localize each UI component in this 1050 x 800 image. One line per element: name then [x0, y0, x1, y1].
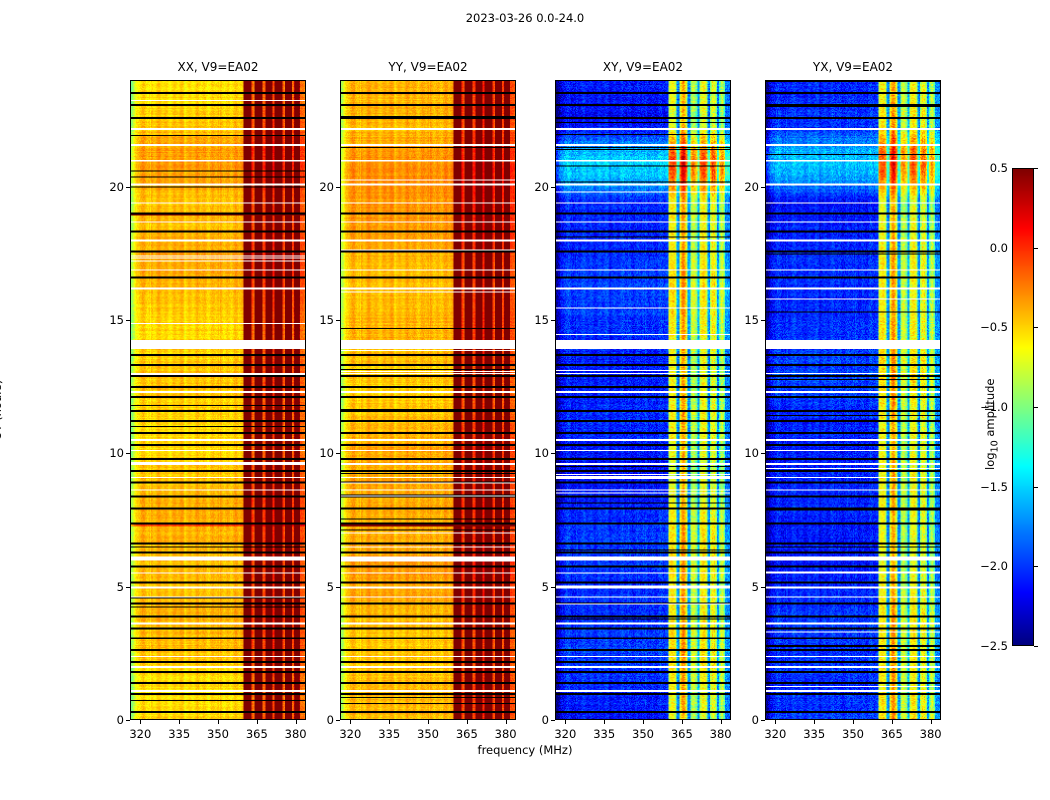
- panel-xx-xtick: [218, 720, 219, 724]
- panel-xy-ytick: [551, 453, 555, 454]
- panel-xx-ytick: [126, 187, 130, 188]
- panel-yy-yticklabel: 15: [306, 313, 334, 327]
- panel-xx-yticklabel: 10: [96, 446, 124, 460]
- panel-xx-xticklabel: 335: [168, 727, 190, 741]
- panel-yx-ytick: [761, 587, 765, 588]
- panel-yy-axes[interactable]: [340, 80, 516, 720]
- panel-yx-xtick: [775, 720, 776, 724]
- colorbar-label: log10 amplitude: [983, 378, 1000, 470]
- panel-yx-ytick: [761, 187, 765, 188]
- figure-canvas: 2023-03-26 0.0-24.0 XX, V9=EA02 YY, V9=E…: [0, 0, 1050, 800]
- colorbar-tick: [1034, 487, 1038, 488]
- panel-yx-xtick: [814, 720, 815, 724]
- panel-yx-yticklabel: 15: [731, 313, 759, 327]
- panel-xx-title: XX, V9=EA02: [130, 60, 306, 74]
- panel-yy-xtick: [506, 720, 507, 724]
- colorbar-ticklabel: −0.5: [970, 320, 1008, 334]
- colorbar-label-subscript: 10: [989, 440, 1000, 452]
- panel-yx-ytick: [761, 720, 765, 721]
- panel-xx-xtick: [257, 720, 258, 724]
- panel-xy-xtick: [643, 720, 644, 724]
- x-axis-label: frequency (MHz): [0, 743, 1050, 757]
- panel-xy-yticklabel: 20: [521, 180, 549, 194]
- panel-xy-ytick: [551, 587, 555, 588]
- panel-xx-ytick: [126, 587, 130, 588]
- colorbar-ticklabel: −1.0: [970, 400, 1008, 414]
- panel-xy-xtick: [565, 720, 566, 724]
- panel-yx-yticklabel: 5: [731, 580, 759, 594]
- colorbar-ticklabel: −2.0: [970, 559, 1008, 573]
- panel-yx-yticklabel: 20: [731, 180, 759, 194]
- panel-xx-yticklabel: 0: [96, 713, 124, 727]
- panel-yy-xticklabel: 365: [456, 727, 478, 741]
- panel-xy-xticklabel: 350: [632, 727, 654, 741]
- panel-yx-xticklabel: 320: [764, 727, 786, 741]
- panel-yy-yticklabel: 0: [306, 713, 334, 727]
- panel-xx-xticklabel: 320: [129, 727, 151, 741]
- panel-xx-xtick: [296, 720, 297, 724]
- panel-yy-ytick: [336, 720, 340, 721]
- panel-yy-ytick: [336, 587, 340, 588]
- panel-xy: XY, V9=EA02: [555, 80, 731, 720]
- colorbar[interactable]: [1012, 168, 1034, 646]
- panel-xx-yticklabel: 15: [96, 313, 124, 327]
- panel-yy-ytick: [336, 320, 340, 321]
- panel-xx-yticklabel: 5: [96, 580, 124, 594]
- panel-xy-xtick: [604, 720, 605, 724]
- panel-yx-ytick: [761, 320, 765, 321]
- panel-yy-ytick: [336, 453, 340, 454]
- y-axis-label: UT (hours): [0, 380, 4, 440]
- panel-xy-yticklabel: 0: [521, 713, 549, 727]
- panel-xy-xticklabel: 320: [554, 727, 576, 741]
- panel-yx-yticklabel: 10: [731, 446, 759, 460]
- panel-xy-yticklabel: 15: [521, 313, 549, 327]
- panel-yx-axes[interactable]: [765, 80, 941, 720]
- panel-yy-title: YY, V9=EA02: [340, 60, 516, 74]
- panel-xx-xticklabel: 350: [207, 727, 229, 741]
- panel-yy-yticklabel: 10: [306, 446, 334, 460]
- panel-yx-ytick: [761, 453, 765, 454]
- panel-yx-xticklabel: 380: [920, 727, 942, 741]
- panel-xx-xticklabel: 365: [246, 727, 268, 741]
- colorbar-tick: [1034, 168, 1038, 169]
- colorbar-ticklabel: −1.5: [970, 480, 1008, 494]
- panel-xx-ytick: [126, 320, 130, 321]
- panel-xy-xtick: [721, 720, 722, 724]
- panel-yy-xticklabel: 350: [417, 727, 439, 741]
- panel-xy-yticklabel: 5: [521, 580, 549, 594]
- panel-yy-xticklabel: 335: [378, 727, 400, 741]
- panel-yy-yticklabel: 20: [306, 180, 334, 194]
- panel-yx-xticklabel: 350: [842, 727, 864, 741]
- panel-yx-xticklabel: 335: [803, 727, 825, 741]
- panel-xx-ytick: [126, 720, 130, 721]
- panel-yx-xtick: [853, 720, 854, 724]
- panel-yy-ytick: [336, 187, 340, 188]
- colorbar-tick: [1034, 248, 1038, 249]
- colorbar-tick: [1034, 407, 1038, 408]
- colorbar-tick: [1034, 566, 1038, 567]
- panel-yy: YY, V9=EA02: [340, 80, 516, 720]
- panel-xy-yticklabel: 10: [521, 446, 549, 460]
- panel-yy-xtick: [428, 720, 429, 724]
- panel-yy-xtick: [350, 720, 351, 724]
- panel-xy-axes[interactable]: [555, 80, 731, 720]
- panel-xy-xtick: [682, 720, 683, 724]
- panel-yx-xtick: [892, 720, 893, 724]
- colorbar-tick: [1034, 327, 1038, 328]
- panel-xy-xticklabel: 335: [593, 727, 615, 741]
- panel-xy-ytick: [551, 187, 555, 188]
- colorbar-ticklabel: 0.5: [970, 161, 1008, 175]
- colorbar-tick: [1034, 646, 1038, 647]
- panel-xy-title: XY, V9=EA02: [555, 60, 731, 74]
- panel-yy-yticklabel: 5: [306, 580, 334, 594]
- panel-yx-yticklabel: 0: [731, 713, 759, 727]
- panel-yx-xtick: [931, 720, 932, 724]
- panel-xy-xticklabel: 380: [710, 727, 732, 741]
- panel-xx-yticklabel: 20: [96, 180, 124, 194]
- figure-suptitle: 2023-03-26 0.0-24.0: [0, 11, 1050, 25]
- colorbar-ticklabel: −2.5: [970, 639, 1008, 653]
- panel-xx-axes[interactable]: [130, 80, 306, 720]
- panel-yx: YX, V9=EA02: [765, 80, 941, 720]
- panel-xy-ytick: [551, 720, 555, 721]
- panel-xy-ytick: [551, 320, 555, 321]
- panel-xx-xtick: [179, 720, 180, 724]
- panel-xy-xticklabel: 365: [671, 727, 693, 741]
- panel-xx-xtick: [140, 720, 141, 724]
- panel-xx-xticklabel: 380: [285, 727, 307, 741]
- panel-yy-xticklabel: 380: [495, 727, 517, 741]
- panel-yx-title: YX, V9=EA02: [765, 60, 941, 74]
- colorbar-ticklabel: 0.0: [970, 241, 1008, 255]
- panel-yy-xtick: [467, 720, 468, 724]
- panel-yy-xticklabel: 320: [339, 727, 361, 741]
- panel-yx-xticklabel: 365: [881, 727, 903, 741]
- panel-xx: XX, V9=EA02: [130, 80, 306, 720]
- panel-yy-xtick: [389, 720, 390, 724]
- colorbar-label-text: log: [983, 452, 997, 470]
- panel-xx-ytick: [126, 453, 130, 454]
